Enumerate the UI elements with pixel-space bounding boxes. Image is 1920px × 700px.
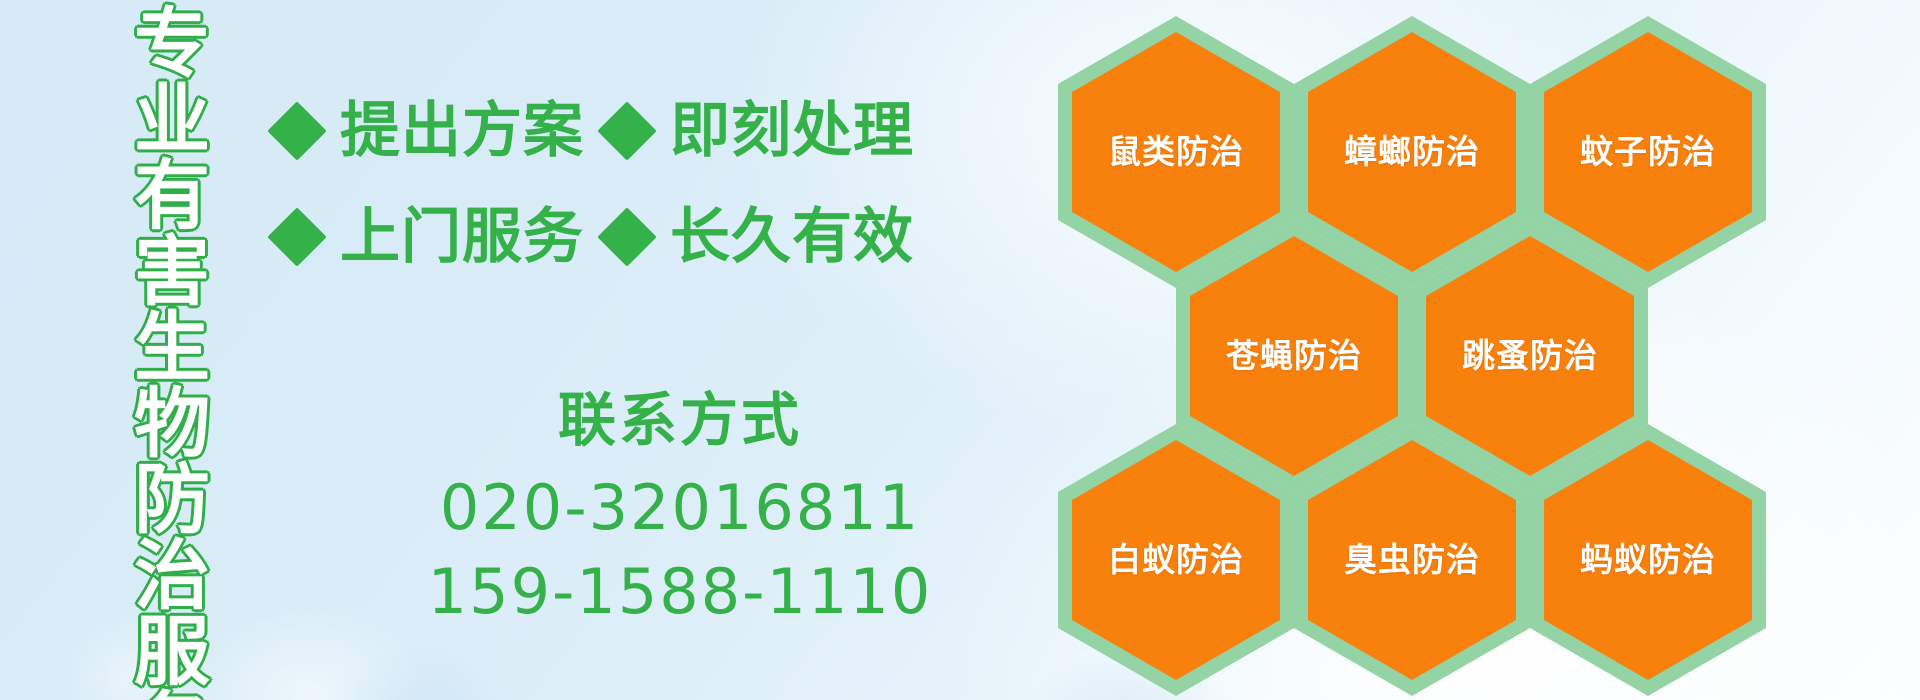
service-hex-label: 蚊子防治 [1580,134,1716,170]
service-hex-label: 苍蝇防治 [1226,338,1362,374]
contact-heading: 联系方式 [360,388,1000,452]
service-hex-label: 蟑螂防治 [1344,134,1480,170]
service-hex-fill: 鼠类防治 [1072,32,1280,272]
feature-label: 上门服务 [340,207,584,267]
vertical-headline-char: 害 [134,234,210,310]
feature-list: 提出方案 即刻处理 上门服务 长久有效 [276,78,876,290]
service-hex-fill: 跳蚤防治 [1426,236,1634,476]
vertical-headline-char: 务 [134,690,210,700]
feature-item-propose-plan: 提出方案 [276,101,584,161]
feature-item-long-lasting: 长久有效 [606,207,914,267]
diamond-bullet-icon [597,207,656,266]
vertical-headline-char: 专 [134,6,210,82]
vertical-headline: 专 业 有 害 生 物 防 治 服 务 [120,6,224,696]
vertical-headline-char: 业 [134,82,210,158]
vertical-headline-char: 服 [134,614,210,690]
service-hex-label: 白蚁防治 [1108,542,1244,578]
contact-block: 联系方式 020-32016811 159-1588-1110 [360,388,1000,634]
vertical-headline-char: 治 [134,538,210,614]
service-hex-label: 跳蚤防治 [1462,338,1598,374]
service-hex-fill: 蚊子防治 [1544,32,1752,272]
diamond-bullet-icon [597,101,656,160]
service-hex-fill: 白蚁防治 [1072,440,1280,680]
feature-item-on-site-service: 上门服务 [276,207,584,267]
feature-label: 长久有效 [670,207,914,267]
feature-row: 上门服务 长久有效 [276,184,876,290]
vertical-headline-char: 生 [134,310,210,386]
service-honeycomb: 鼠类防治 蟑螂防治 蚊子防治 苍蝇防治 跳蚤防治 白蚁防治 [1040,0,1820,700]
promo-banner: 专 业 有 害 生 物 防 治 服 务 提出方案 即刻处理 上门服务 [0,0,1920,700]
service-hex-label: 蚂蚁防治 [1580,542,1716,578]
contact-phone-landline[interactable]: 020-32016811 [360,466,1000,550]
service-hex-fill: 蚂蚁防治 [1544,440,1752,680]
diamond-bullet-icon [267,207,326,266]
contact-phone-mobile[interactable]: 159-1588-1110 [360,550,1000,634]
vertical-headline-char: 防 [134,462,210,538]
decorative-bloom [330,640,510,700]
diamond-bullet-icon [267,101,326,160]
feature-row: 提出方案 即刻处理 [276,78,876,184]
service-hex-fill: 苍蝇防治 [1190,236,1398,476]
feature-label: 提出方案 [340,101,584,161]
feature-label: 即刻处理 [670,101,914,161]
vertical-headline-char: 物 [134,386,210,462]
service-hex-fill: 蟑螂防治 [1308,32,1516,272]
service-hex-fill: 臭虫防治 [1308,440,1516,680]
feature-item-immediate-handling: 即刻处理 [606,101,914,161]
service-hex-label: 鼠类防治 [1108,134,1244,170]
vertical-headline-char: 有 [134,158,210,234]
service-hex-label: 臭虫防治 [1344,542,1480,578]
